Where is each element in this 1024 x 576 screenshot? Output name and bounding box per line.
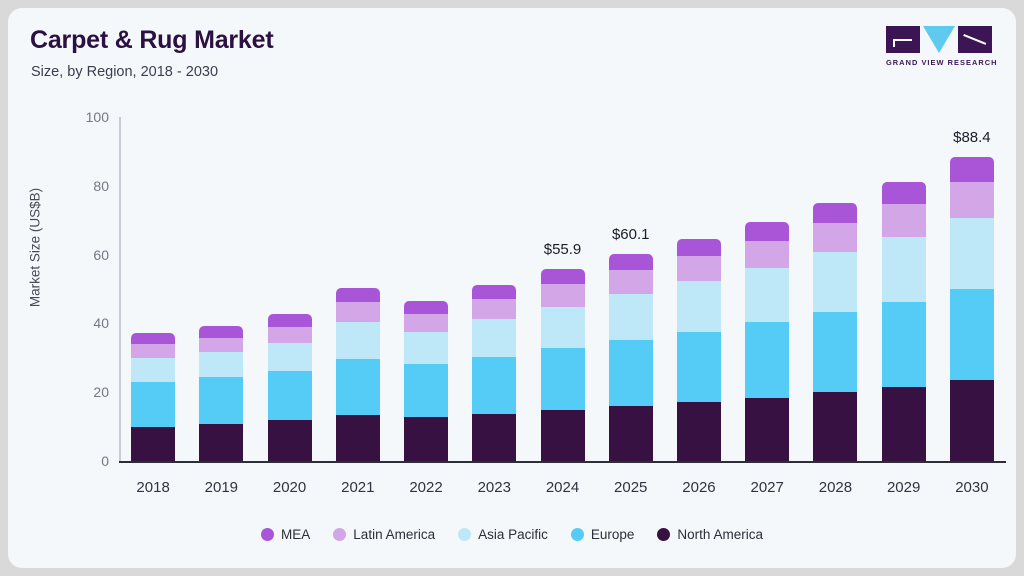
bar-segment-europe[interactable]: [882, 302, 926, 388]
bar-2029[interactable]: [882, 182, 926, 461]
bar-segment-asia-pacific[interactable]: [404, 332, 448, 364]
bar-segment-mea[interactable]: [745, 222, 789, 241]
legend-swatch-icon: [657, 528, 670, 541]
bar-segment-north-america[interactable]: [609, 406, 653, 461]
bar-segment-latin-america[interactable]: [609, 270, 653, 294]
legend-label: Asia Pacific: [478, 527, 548, 542]
bar-2025[interactable]: [609, 254, 653, 461]
bar-segment-asia-pacific[interactable]: [677, 281, 721, 332]
x-axis-line: [119, 461, 1006, 463]
bar-segment-north-america[interactable]: [813, 392, 857, 461]
bar-segment-mea[interactable]: [541, 269, 585, 284]
bar-segment-latin-america[interactable]: [472, 299, 516, 318]
bar-segment-mea[interactable]: [882, 182, 926, 204]
bar-segment-asia-pacific[interactable]: [950, 218, 994, 289]
bar-segment-europe[interactable]: [745, 322, 789, 397]
bar-segment-europe[interactable]: [609, 340, 653, 406]
bar-segment-north-america[interactable]: [268, 420, 312, 461]
bar-2024[interactable]: [541, 269, 585, 461]
bar-segment-north-america[interactable]: [472, 414, 516, 461]
bar-segment-europe[interactable]: [336, 359, 380, 415]
legend-item-latin-america[interactable]: Latin America: [333, 527, 435, 542]
bar-segment-europe[interactable]: [541, 348, 585, 410]
legend-label: Latin America: [353, 527, 435, 542]
bar-value-label-2025: $60.1: [612, 226, 650, 243]
bar-segment-mea[interactable]: [336, 288, 380, 302]
bar-segment-asia-pacific[interactable]: [813, 252, 857, 312]
bar-segment-latin-america[interactable]: [882, 204, 926, 237]
bar-segment-asia-pacific[interactable]: [336, 322, 380, 359]
bar-segment-north-america[interactable]: [677, 402, 721, 461]
bar-segment-europe[interactable]: [404, 364, 448, 417]
y-axis-tick-0: 0: [61, 453, 109, 469]
bar-2027[interactable]: [745, 222, 789, 461]
legend-item-europe[interactable]: Europe: [571, 527, 635, 542]
y-axis-label: Market Size (US$B): [28, 158, 43, 338]
bar-segment-asia-pacific[interactable]: [199, 352, 243, 377]
bar-segment-asia-pacific[interactable]: [609, 294, 653, 340]
bar-segment-asia-pacific[interactable]: [268, 343, 312, 371]
y-axis-tick-100: 100: [61, 109, 109, 125]
bar-segment-north-america[interactable]: [404, 417, 448, 461]
chart-legend: MEALatin AmericaAsia PacificEuropeNorth …: [8, 527, 1016, 542]
bar-segment-latin-america[interactable]: [336, 302, 380, 322]
legend-item-north-america[interactable]: North America: [657, 527, 763, 542]
bar-segment-latin-america[interactable]: [199, 338, 243, 353]
bar-segment-mea[interactable]: [813, 203, 857, 223]
bar-segment-mea[interactable]: [950, 157, 994, 182]
bar-segment-mea[interactable]: [268, 314, 312, 327]
legend-label: North America: [677, 527, 763, 542]
bar-segment-latin-america[interactable]: [268, 327, 312, 343]
legend-label: Europe: [591, 527, 635, 542]
bar-segment-europe[interactable]: [950, 289, 994, 380]
bar-segment-europe[interactable]: [677, 332, 721, 402]
bar-segment-north-america[interactable]: [131, 427, 175, 461]
bar-segment-north-america[interactable]: [199, 424, 243, 461]
bar-segment-latin-america[interactable]: [950, 182, 994, 218]
bar-segment-asia-pacific[interactable]: [472, 319, 516, 358]
bar-segment-mea[interactable]: [131, 333, 175, 344]
bar-segment-asia-pacific[interactable]: [745, 268, 789, 322]
bar-chart: Market Size (US$B) 020406080100 $55.9$60…: [8, 8, 1016, 568]
bar-segment-mea[interactable]: [609, 254, 653, 270]
bar-segment-asia-pacific[interactable]: [541, 307, 585, 349]
y-axis-tick-60: 60: [61, 247, 109, 263]
bar-segment-latin-america[interactable]: [745, 241, 789, 268]
bar-segment-mea[interactable]: [677, 239, 721, 256]
bar-2030[interactable]: [950, 157, 994, 461]
bar-segment-latin-america[interactable]: [677, 256, 721, 281]
legend-swatch-icon: [458, 528, 471, 541]
bar-segment-north-america[interactable]: [745, 398, 789, 461]
bar-segment-latin-america[interactable]: [404, 314, 448, 332]
bar-segment-north-america[interactable]: [541, 410, 585, 461]
bar-2018[interactable]: [131, 333, 175, 461]
bar-2020[interactable]: [268, 314, 312, 461]
bar-segment-mea[interactable]: [404, 301, 448, 315]
legend-item-asia-pacific[interactable]: Asia Pacific: [458, 527, 548, 542]
bar-segment-europe[interactable]: [131, 382, 175, 427]
legend-label: MEA: [281, 527, 310, 542]
bar-segment-latin-america[interactable]: [813, 223, 857, 253]
bar-segment-north-america[interactable]: [336, 415, 380, 461]
bar-2028[interactable]: [813, 203, 857, 461]
legend-item-mea[interactable]: MEA: [261, 527, 310, 542]
bar-segment-latin-america[interactable]: [541, 284, 585, 306]
x-axis-tick-2030: 2030: [932, 479, 1012, 496]
y-axis-line: [119, 117, 121, 462]
legend-swatch-icon: [571, 528, 584, 541]
bar-segment-europe[interactable]: [813, 312, 857, 391]
bar-segment-latin-america[interactable]: [131, 344, 175, 358]
bar-2021[interactable]: [336, 288, 380, 461]
legend-swatch-icon: [333, 528, 346, 541]
legend-swatch-icon: [261, 528, 274, 541]
chart-card: Carpet & Rug Market Size, by Region, 201…: [8, 8, 1016, 568]
bar-2023[interactable]: [472, 285, 516, 461]
bar-value-label-2024: $55.9: [544, 241, 582, 258]
bar-2022[interactable]: [404, 301, 448, 461]
y-axis-tick-80: 80: [61, 178, 109, 194]
bar-segment-europe[interactable]: [199, 377, 243, 423]
bar-segment-mea[interactable]: [472, 285, 516, 299]
bar-segment-north-america[interactable]: [950, 380, 994, 461]
y-axis-tick-40: 40: [61, 315, 109, 331]
bar-segment-asia-pacific[interactable]: [131, 358, 175, 382]
bar-segment-asia-pacific[interactable]: [882, 237, 926, 302]
y-axis-tick-20: 20: [61, 384, 109, 400]
bar-segment-europe[interactable]: [472, 357, 516, 414]
bar-segment-north-america[interactable]: [882, 387, 926, 461]
bar-segment-mea[interactable]: [199, 326, 243, 338]
bar-2026[interactable]: [677, 239, 721, 461]
bar-value-label-2030: $88.4: [953, 129, 991, 146]
bar-2019[interactable]: [199, 326, 243, 461]
bar-segment-europe[interactable]: [268, 371, 312, 421]
